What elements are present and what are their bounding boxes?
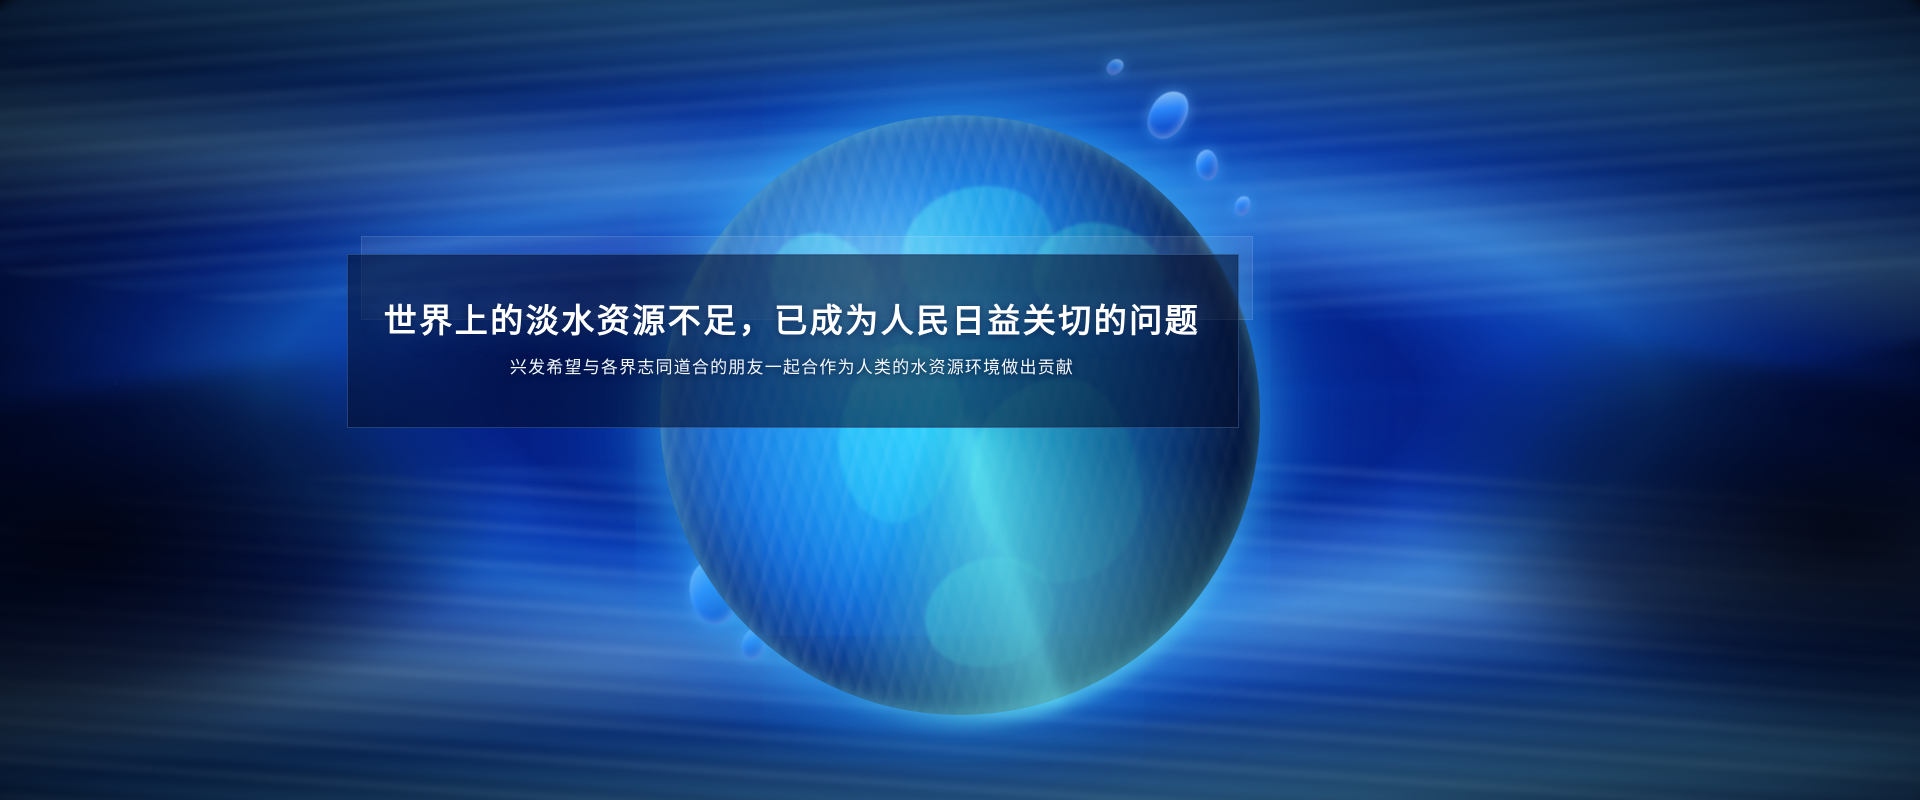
banner-headline: 世界上的淡水资源不足，已成为人民日益关切的问题 <box>384 304 1201 337</box>
hero-banner: 世界上的淡水资源不足，已成为人民日益关切的问题 兴发希望与各界志同道合的朋友一起… <box>0 0 1920 800</box>
banner-subline: 兴发希望与各界志同道合的朋友一起合作为人类的水资源环境做出贡献 <box>510 359 1074 376</box>
panel-content: 世界上的淡水资源不足，已成为人民日益关切的问题 兴发希望与各界志同道合的朋友一起… <box>347 254 1237 426</box>
text-panel: 世界上的淡水资源不足，已成为人民日益关切的问题 兴发希望与各界志同道合的朋友一起… <box>347 236 1237 426</box>
